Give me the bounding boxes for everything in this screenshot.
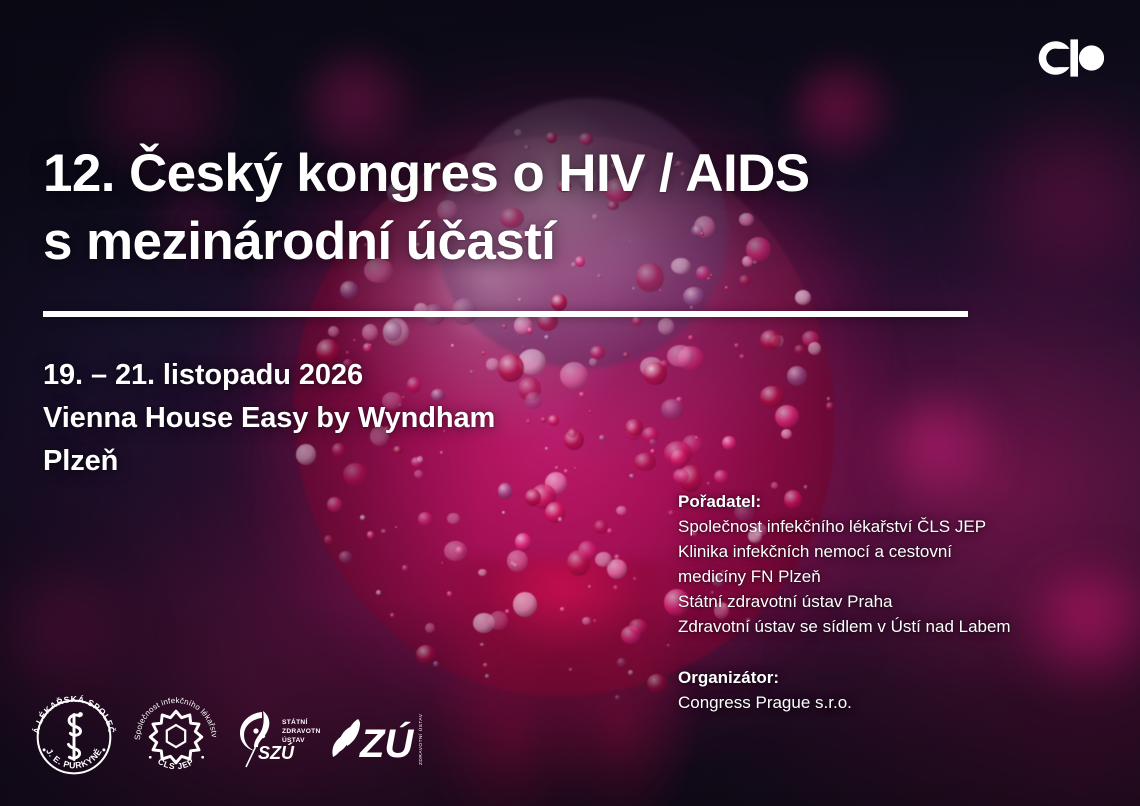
cls-jep-logo-icon: ČESKÁ LÉKAŘSKÁ SPOLEČNOST J. E. PURKYNĚ — [28, 691, 120, 783]
host-line: Státní zdravotní ústav Praha — [678, 589, 1118, 614]
credits-block: Pořadatel: Společnost infekčního lékařst… — [678, 489, 1118, 715]
host-line: Společnost infekčního lékařství ČLS JEP — [678, 514, 1118, 539]
svg-text:ČLS JEP: ČLS JEP — [156, 755, 196, 771]
event-venue: Vienna House Easy by Wyndham — [43, 397, 723, 440]
host-group: Pořadatel: Společnost infekčního lékařst… — [678, 489, 1118, 639]
szu-logo-icon: SZÚ STÁTNÍ ZDRAVOTNÍ ÚSTAV — [232, 707, 320, 773]
title-line-1: 12. Český kongres o HIV / AIDS — [43, 140, 1023, 208]
partner-logo-szu: SZÚ STÁTNÍ ZDRAVOTNÍ ÚSTAV — [232, 707, 320, 788]
organizer-group: Organizátor: Congress Prague s.r.o. — [678, 665, 1118, 715]
zu-wordmark: ZÚ — [359, 720, 414, 766]
zu-side-text: ZDRAVOTNÍ ÚSTAV — [417, 713, 424, 765]
event-dates: 19. – 21. listopadu 2026 — [43, 354, 723, 397]
poster-content: 12. Český kongres o HIV / AIDS s mezinár… — [0, 0, 1140, 806]
partner-logo-row: ČESKÁ LÉKAŘSKÁ SPOLEČNOST J. E. PURKYNĚ — [28, 688, 430, 788]
sil-ring-top: Společnost infekčního lékařství — [130, 691, 219, 740]
zu-logo-icon: ZÚ ZDRAVOTNÍ ÚSTAV — [330, 707, 430, 773]
cp-logo-icon — [1030, 36, 1104, 80]
szu-subtitle-2: ZDRAVOTNÍ — [282, 726, 320, 735]
host-line: Zdravotní ústav se sídlem v Ústí nad Lab… — [678, 614, 1118, 639]
organizer-heading: Organizátor: — [678, 665, 1118, 690]
event-city: Plzeň — [43, 440, 723, 483]
host-line: medicíny FN Plzeň — [678, 564, 1118, 589]
host-heading: Pořadatel: — [678, 489, 1118, 514]
page-title: 12. Český kongres o HIV / AIDS s mezinár… — [43, 140, 1023, 276]
szu-wordmark: SZÚ — [258, 742, 295, 763]
organizer-line: Congress Prague s.r.o. — [678, 690, 1118, 715]
partner-logo-cls-jep: ČESKÁ LÉKAŘSKÁ SPOLEČNOST J. E. PURKYNĚ — [28, 691, 120, 788]
partner-logo-sil-cls-jep: Společnost infekčního lékařství ČLS JEP — [130, 691, 222, 788]
title-divider — [43, 311, 968, 317]
event-details: 19. – 21. listopadu 2026 Vienna House Ea… — [43, 354, 723, 483]
host-line: Klinika infekčních nemocí a cestovní — [678, 539, 1118, 564]
sil-cls-jep-logo-icon: Společnost infekčního lékařství ČLS JEP — [130, 691, 222, 783]
svg-text:Společnost infekčního lékařstv: Společnost infekčního lékařství — [130, 691, 219, 740]
partner-logo-zu: ZÚ ZDRAVOTNÍ ÚSTAV — [330, 707, 430, 788]
sil-ring-bottom: ČLS JEP — [156, 755, 196, 771]
title-line-2: s mezinárodní účastí — [43, 208, 1023, 276]
szu-subtitle-1: STÁTNÍ — [282, 717, 308, 726]
conference-poster: 12. Český kongres o HIV / AIDS s mezinár… — [0, 0, 1140, 806]
szu-subtitle-3: ÚSTAV — [282, 735, 305, 744]
